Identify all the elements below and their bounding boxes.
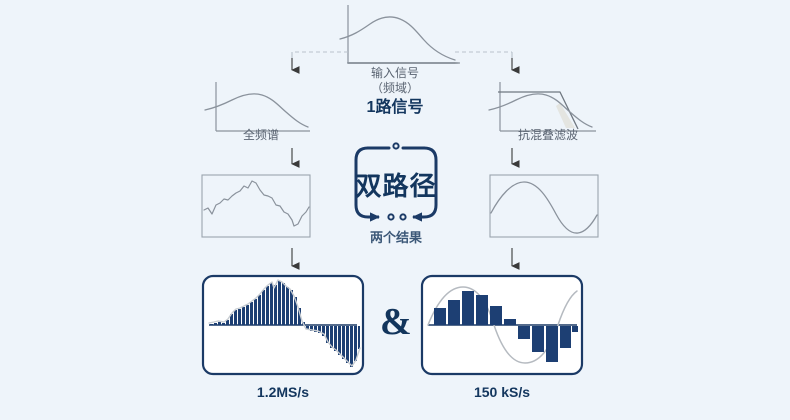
diagram-canvas: 输入信号 （频域） 1路信号 全频谱 抗混叠滤波 双路径 两个结果 & 1.2M…	[0, 0, 790, 420]
branch-connector-right	[455, 52, 512, 70]
chart-result-fast-sampling	[203, 276, 363, 374]
label-input-signal: 输入信号	[340, 66, 450, 81]
label-dual-path: 双路径	[355, 166, 437, 203]
diagram-vector-layer	[0, 0, 790, 420]
label-input-signal-sub: （频域）	[340, 81, 450, 96]
chart-anti-alias-filter	[489, 82, 596, 131]
chart-input-spectrum	[340, 5, 460, 63]
label-one-path: 1路信号	[340, 100, 450, 115]
label-two-results: 两个结果	[356, 230, 436, 245]
chart-result-slow-sampling	[422, 276, 582, 374]
label-rate-fast: 1.2MS/s	[233, 385, 333, 400]
chart-left-time-trace	[202, 175, 310, 237]
label-ampersand: &	[380, 300, 412, 344]
label-full-spectrum: 全频谱	[216, 128, 306, 143]
chart-full-spectrum	[205, 82, 310, 131]
label-anti-alias-filter: 抗混叠滤波	[500, 128, 596, 143]
label-rate-slow: 150 kS/s	[452, 385, 552, 400]
chart-right-sine-trace	[490, 175, 598, 237]
